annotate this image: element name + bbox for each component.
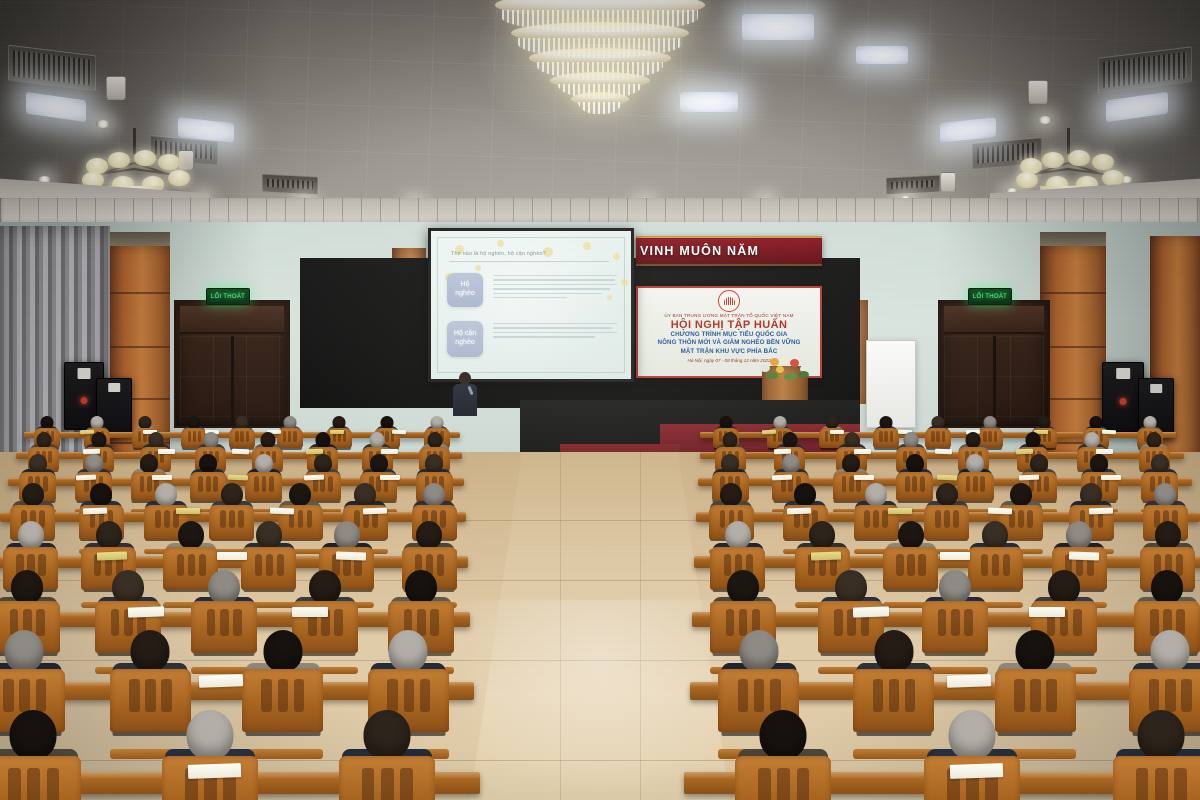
- slide-title: Thế nào là hộ nghèo, hộ cận nghèo?: [451, 251, 619, 257]
- chair[interactable]: [853, 669, 934, 765]
- paper-sheet: [950, 763, 1003, 779]
- slide-decor-dot: [583, 242, 591, 250]
- person-head: [721, 454, 739, 473]
- speaker-plate: [1116, 368, 1130, 379]
- document-folder: [176, 508, 200, 514]
- person-head: [949, 710, 996, 760]
- person-head: [1151, 454, 1169, 473]
- chair-slat: [889, 679, 900, 712]
- backdrop-line-2: NÔNG THÔN MỚI VÀ GIẢM NGHÈO BỀN VỮNG: [658, 339, 801, 347]
- chair-slat: [980, 476, 985, 491]
- mttq-emblem-icon: [718, 290, 740, 312]
- chair-slat: [864, 510, 870, 528]
- ceiling-speaker-icon: [940, 172, 956, 192]
- projection-screen: Thế nào là hộ nghèo, hộ cận nghèo? Hộ ng…: [428, 228, 634, 382]
- door-right[interactable]: [938, 300, 1050, 428]
- chair-slat: [420, 679, 431, 712]
- chair-slat: [229, 510, 235, 528]
- paper-sheet: [381, 449, 398, 454]
- person-head: [260, 432, 275, 448]
- person-head: [906, 454, 924, 473]
- chair-slat: [842, 476, 847, 491]
- person-head: [289, 483, 311, 506]
- paper-sheet: [217, 552, 247, 560]
- person-head: [36, 432, 51, 448]
- person-head: [1085, 432, 1100, 448]
- person-head: [794, 483, 816, 506]
- chandelier-stem: [133, 128, 136, 154]
- chair-slat: [198, 476, 203, 491]
- main-crystal-chandelier: [485, 0, 715, 112]
- slide-body-text-2: [493, 323, 617, 341]
- paper-sheet: [787, 508, 811, 515]
- paper-sheet: [128, 606, 164, 617]
- paper-sheet: [854, 475, 874, 480]
- person-head: [112, 570, 144, 604]
- chair-slat: [240, 431, 243, 442]
- person-head: [842, 454, 860, 473]
- chair-slat: [1046, 679, 1057, 712]
- person-head: [982, 521, 1008, 549]
- chair-slat: [770, 679, 781, 712]
- paper-sheet: [363, 508, 387, 515]
- person-head: [739, 630, 778, 672]
- chair-slat: [293, 431, 296, 442]
- backdrop-title: HỘI NGHỊ TẬP HUẤN: [671, 319, 788, 331]
- document-folder: [937, 475, 957, 481]
- chair-slat: [328, 476, 333, 491]
- person-head: [370, 454, 388, 473]
- person-head: [187, 710, 234, 760]
- person-head: [1025, 432, 1040, 448]
- chair-slat: [262, 476, 267, 491]
- person-head: [178, 521, 204, 549]
- person-head: [148, 432, 163, 448]
- door-transom: [944, 306, 1044, 334]
- person-head: [936, 483, 958, 506]
- chair-slat: [777, 768, 789, 800]
- document-folder: [811, 551, 841, 560]
- paper-sheet: [988, 508, 1012, 515]
- person-head: [85, 454, 103, 473]
- chair-slat: [951, 609, 960, 636]
- chair-slat: [400, 768, 412, 800]
- chair-slat: [387, 679, 398, 712]
- person-head: [966, 432, 981, 448]
- person-head: [370, 432, 385, 448]
- chair-slat: [1044, 476, 1049, 491]
- person-head: [727, 570, 759, 604]
- chair-slat: [3, 679, 14, 712]
- chair-slat: [1155, 768, 1167, 800]
- chair[interactable]: [735, 756, 831, 800]
- person-head: [389, 630, 428, 672]
- ceiling-speaker-icon: [106, 76, 126, 100]
- chair-slat: [220, 510, 226, 528]
- chair-slat: [1027, 510, 1033, 528]
- person-head: [1137, 710, 1184, 760]
- slide-decor-dot: [497, 240, 504, 247]
- chair-slat: [879, 431, 882, 442]
- chair-slat: [177, 554, 184, 576]
- backdrop-org-line: ỦY BAN TRUNG ƯƠNG MẶT TRẬN TỔ QUỐC VIỆT …: [664, 313, 793, 318]
- person-head: [809, 521, 835, 549]
- ceiling-speaker-icon: [1028, 80, 1048, 104]
- chair[interactable]: [339, 756, 435, 800]
- person-head: [1151, 570, 1183, 604]
- chair-slat: [233, 609, 242, 636]
- chair-slat: [964, 609, 973, 636]
- person-head: [29, 454, 47, 473]
- person-head: [1010, 483, 1032, 506]
- chair-slat: [834, 609, 843, 636]
- paper-sheet: [1019, 475, 1039, 481]
- chair-slat: [973, 476, 978, 491]
- chair-slat: [220, 609, 229, 636]
- chair-slat: [294, 679, 305, 712]
- chair-slat: [36, 679, 47, 712]
- slide-tag-near-poor-household: Hộ cận nghèo: [447, 321, 483, 357]
- chair-slat: [938, 609, 947, 636]
- chair[interactable]: [1113, 756, 1200, 800]
- person-head: [363, 710, 410, 760]
- chair-slat: [362, 768, 374, 800]
- document-folder: [97, 551, 127, 560]
- document-folder: [888, 508, 912, 514]
- slide-content: Thế nào là hộ nghèo, hộ cận nghèo? Hộ ng…: [431, 231, 631, 379]
- paper-sheet: [336, 551, 366, 560]
- chair-slat: [890, 431, 893, 442]
- chair-slat: [404, 679, 415, 712]
- slide-body-text-1: [493, 275, 617, 301]
- paper-sheet: [83, 508, 107, 515]
- chair-slat: [1030, 679, 1041, 712]
- exit-sign-left: LỐI THOÁT: [206, 288, 250, 305]
- flower-arrangement: [754, 352, 816, 382]
- person-head: [199, 454, 217, 473]
- person-head: [904, 432, 919, 448]
- chair-back: [229, 428, 255, 448]
- slide-decor-dot: [475, 265, 481, 271]
- chair-slat: [47, 768, 59, 800]
- person-head: [427, 432, 442, 448]
- exit-sign-right: LỐI THOÁT: [968, 288, 1012, 305]
- chair-slat: [1149, 679, 1160, 712]
- downlight-icon: [1038, 116, 1052, 124]
- chair-slat: [912, 476, 917, 491]
- person-head: [354, 483, 376, 506]
- speaker-plate: [1150, 384, 1162, 393]
- red-banner-text: VINH MUÔN NĂM: [636, 244, 759, 258]
- person-head: [334, 521, 360, 549]
- paper-sheet: [380, 475, 400, 480]
- person-head: [423, 483, 445, 506]
- person-head: [844, 432, 859, 448]
- slide-tag2-line1: Hộ cận: [454, 330, 476, 339]
- chair-slat: [161, 679, 172, 712]
- person-head: [835, 570, 867, 604]
- door-split: [993, 336, 996, 422]
- speaker-led-icon: [81, 397, 88, 404]
- presenter-body: [453, 384, 477, 416]
- person-head: [208, 570, 240, 604]
- paper-sheet: [304, 475, 324, 481]
- chair-slat: [873, 679, 884, 712]
- chandelier-stem: [1067, 128, 1070, 154]
- chair-slat: [953, 510, 959, 528]
- person-head: [1066, 521, 1092, 549]
- chair-slat: [155, 510, 161, 528]
- downlight-icon: [96, 120, 110, 128]
- chair-back: [735, 756, 831, 800]
- chair[interactable]: [0, 756, 81, 800]
- person-head: [425, 454, 443, 473]
- door-split: [231, 336, 234, 422]
- person-head: [221, 483, 243, 506]
- person-head: [263, 630, 302, 672]
- chair-slat: [1136, 768, 1148, 800]
- chair-slat: [754, 679, 765, 712]
- person-head: [315, 432, 330, 448]
- person-head: [760, 710, 807, 760]
- chair-slat: [936, 431, 939, 442]
- speaker-led-icon: [1120, 398, 1127, 405]
- chair-slat: [129, 679, 140, 712]
- column-capital-left: [108, 232, 170, 246]
- chair-slat: [942, 431, 945, 442]
- chair-slat: [27, 768, 39, 800]
- person-head: [782, 454, 800, 473]
- chair-slat: [1174, 768, 1186, 800]
- slide-tag2-line2: nghèo: [455, 339, 474, 348]
- chair-back: [853, 669, 934, 732]
- person-head: [1048, 570, 1080, 604]
- ac-vent-icon: [886, 175, 940, 195]
- paper-sheet: [188, 763, 241, 779]
- person-head: [256, 521, 282, 549]
- person-head: [18, 521, 44, 549]
- paper-sheet: [1029, 607, 1065, 617]
- paper-sheet: [158, 449, 175, 454]
- chair-slat: [931, 431, 934, 442]
- person-head: [131, 630, 170, 672]
- ceiling-panel-light: [742, 14, 814, 40]
- person-head: [1155, 521, 1181, 549]
- slide-tag-poor-household: Hộ nghèo: [447, 273, 483, 307]
- paper-sheet: [854, 449, 871, 454]
- person-head: [416, 521, 442, 549]
- person-head: [1016, 630, 1055, 672]
- chair-slat: [797, 768, 809, 800]
- chair-slat: [261, 679, 272, 712]
- person-head: [1147, 432, 1162, 448]
- chair-back: [339, 756, 435, 800]
- person-head: [1030, 454, 1048, 473]
- person-head: [898, 521, 924, 549]
- chair-slat: [1165, 679, 1176, 712]
- person-head: [1080, 483, 1102, 506]
- chair-slat: [19, 679, 30, 712]
- person-head: [140, 454, 158, 473]
- ceiling-panel-light: [856, 46, 908, 64]
- chair-slat: [235, 431, 238, 442]
- paper-sheet: [1096, 449, 1113, 454]
- paper-sheet: [392, 430, 406, 434]
- chair-slat: [254, 476, 259, 491]
- person-head: [1090, 454, 1108, 473]
- chair-slat: [188, 431, 191, 442]
- chair-slat: [334, 609, 343, 636]
- paper-sheet: [152, 475, 172, 480]
- chair-slat: [884, 431, 887, 442]
- paper-sheet: [1089, 508, 1113, 515]
- paper-sheet: [940, 552, 970, 560]
- chair-slat: [1048, 431, 1051, 442]
- chair-slat: [1014, 679, 1025, 712]
- paper-sheet: [269, 508, 293, 515]
- paper-sheet: [292, 607, 328, 617]
- chair-slat: [988, 431, 991, 442]
- chair-slat: [1181, 679, 1192, 712]
- chair-slat: [758, 768, 770, 800]
- person-head: [874, 630, 913, 672]
- presenter: [452, 372, 478, 416]
- chair-slat: [8, 768, 20, 800]
- chair-slat: [277, 554, 284, 576]
- chair-slat: [992, 554, 999, 576]
- chair-slat: [907, 554, 914, 576]
- exit-sign-left-label: LỐI THOÁT: [211, 294, 245, 300]
- document-folder: [228, 475, 248, 481]
- paper-sheet: [76, 475, 96, 481]
- person-head: [255, 454, 273, 473]
- person-head: [96, 521, 122, 549]
- paper-sheet: [853, 606, 889, 617]
- person-head: [90, 483, 112, 506]
- door-left[interactable]: [174, 300, 290, 428]
- slide-tag1-line1: Hộ: [461, 281, 470, 290]
- chair-slat: [145, 679, 156, 712]
- person-head: [91, 432, 106, 448]
- person-head: [5, 630, 44, 672]
- person-head: [939, 570, 971, 604]
- paper-sheet: [772, 475, 792, 481]
- chair-slat: [896, 554, 903, 576]
- person-head: [782, 432, 797, 448]
- chair-slat: [905, 476, 910, 491]
- slide-title-rule: [449, 261, 609, 262]
- chair-slat: [246, 431, 249, 442]
- speaker-plate: [78, 368, 91, 379]
- chair-back: [1113, 756, 1200, 800]
- paper-sheet: [199, 674, 243, 688]
- chair-slat: [944, 510, 950, 528]
- door-transom: [180, 306, 284, 334]
- chair-slat: [288, 431, 291, 442]
- chair-slat: [278, 679, 289, 712]
- person-head: [405, 570, 437, 604]
- chair-slat: [207, 609, 216, 636]
- person-head: [865, 483, 887, 506]
- chair-slat: [825, 431, 828, 442]
- person-head: [22, 483, 44, 506]
- chair-slat: [905, 679, 916, 712]
- chair-slat: [873, 510, 879, 528]
- chair-slat: [738, 679, 749, 712]
- slide-decor-dot: [621, 279, 628, 286]
- person-head: [966, 454, 984, 473]
- paper-sheet: [935, 449, 952, 455]
- speaker-plate: [108, 383, 120, 392]
- slide-tag1-line2: nghèo: [455, 290, 474, 299]
- chair-back: [925, 428, 951, 448]
- conference-hall-photo: LỐI THOÁT LỐI THOÁT VINH MUÔN NĂM ỦY BAN…: [0, 0, 1200, 800]
- chair-arm: [853, 749, 934, 759]
- person-head: [720, 483, 742, 506]
- chair-slat: [298, 510, 304, 528]
- chair-slat: [307, 510, 313, 528]
- column-capital-right: [1040, 232, 1106, 246]
- person-head: [314, 454, 332, 473]
- person-head: [1154, 483, 1176, 506]
- person-head: [725, 521, 751, 549]
- person-head: [155, 483, 177, 506]
- chair-back: [0, 756, 81, 800]
- red-banner: VINH MUÔN NĂM: [636, 236, 822, 266]
- person-head: [10, 710, 57, 760]
- person-head: [11, 570, 43, 604]
- chair-slat: [269, 476, 274, 491]
- person-head: [203, 432, 218, 448]
- paper-sheet: [1069, 551, 1099, 560]
- paper-sheet: [1101, 475, 1121, 480]
- person-head: [309, 570, 341, 604]
- person-head: [723, 432, 738, 448]
- chair-slat: [266, 554, 273, 576]
- chair-slat: [1003, 554, 1010, 576]
- paper-sheet: [947, 674, 991, 688]
- exit-sign-right-label: LỐI THOÁT: [973, 294, 1007, 300]
- chair-slat: [381, 768, 393, 800]
- chair-slat: [994, 431, 997, 442]
- person-head: [1150, 630, 1189, 672]
- ac-vent-icon: [262, 174, 318, 195]
